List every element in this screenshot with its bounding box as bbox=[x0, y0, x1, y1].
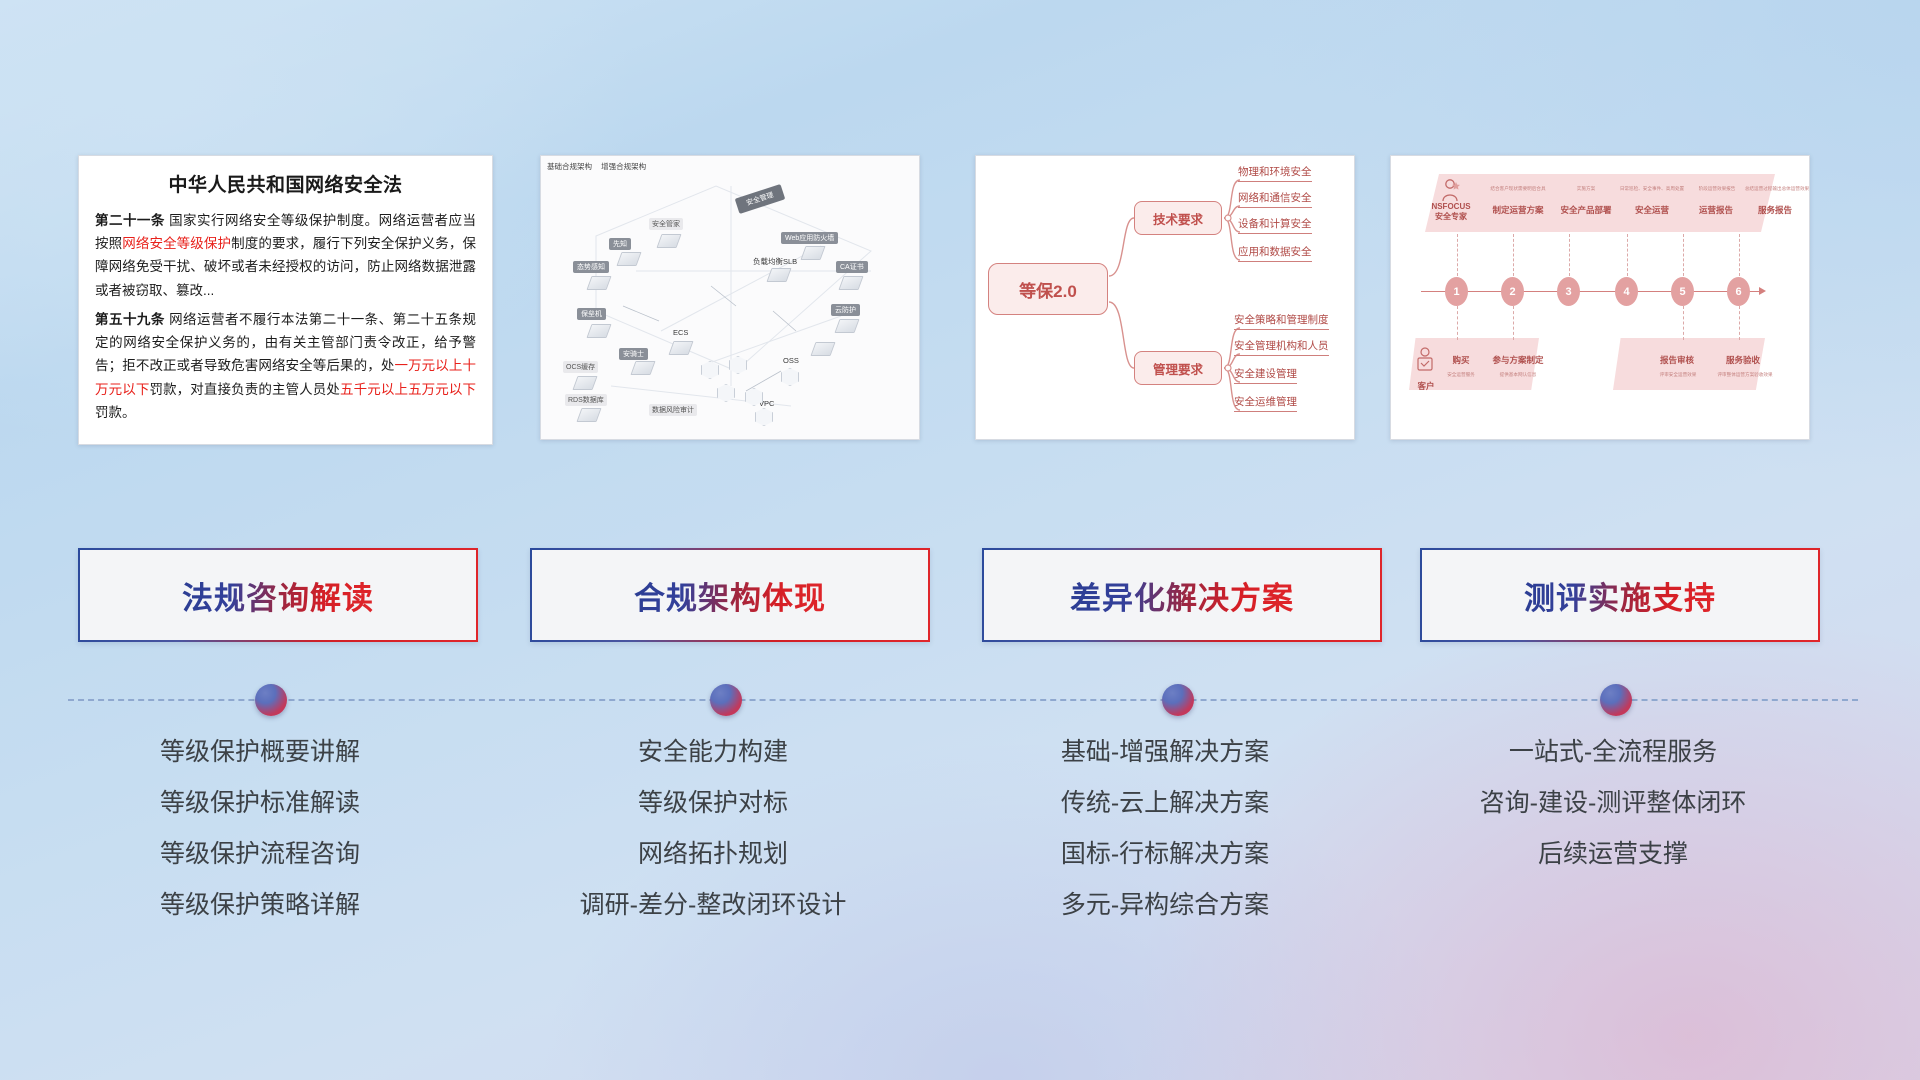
mindmap-branch-management[interactable]: 管理要求 bbox=[1134, 351, 1222, 385]
timeline-step-5[interactable]: 5 bbox=[1671, 277, 1694, 306]
arch-node-waf: Web应用防火墙 bbox=[781, 232, 838, 244]
article-21-label: 第二十一条 bbox=[95, 213, 165, 228]
article-21-highlight: 网络安全等级保护 bbox=[122, 236, 231, 251]
bottom-step-2-sub: 提供基本网认信息 bbox=[1483, 372, 1553, 378]
arch-tab-basic[interactable]: 基础合规架构 bbox=[547, 162, 592, 171]
top-step-4-sub: 日常巡检、安全事件、高周处置 bbox=[1613, 186, 1691, 192]
timeline-bead-4[interactable] bbox=[1600, 684, 1632, 716]
detail-columns: 等级保护概要讲解 等级保护标准解读 等级保护流程咨询 等级保护策略详解 安全能力… bbox=[0, 740, 1920, 1040]
list-item: 多元-异构综合方案 bbox=[965, 893, 1365, 918]
timeline-step-4[interactable]: 4 bbox=[1615, 277, 1638, 306]
progress-timeline bbox=[0, 670, 1920, 730]
service-timeline: NSFOCUS安全专家 结合客户现状需要明后合具 制定运营方案 实施方案 安全产… bbox=[1391, 156, 1809, 439]
headline-label-1: 法规咨询解读 bbox=[182, 573, 374, 618]
list-item: 等级保护概要讲解 bbox=[60, 740, 460, 765]
list-item: 国标-行标解决方案 bbox=[965, 842, 1365, 867]
top-step-5-label: 运营报告 bbox=[1685, 204, 1747, 216]
mindmap-leaf-device-compute: 设备和计算安全 bbox=[1238, 216, 1312, 234]
top-step-4-label: 安全运营 bbox=[1619, 204, 1685, 216]
bottom-step-6-sub: 评审整体运营方案验收效果 bbox=[1707, 372, 1783, 378]
headline-box-compliance-architecture[interactable]: 合规架构体现 bbox=[530, 548, 930, 642]
expert-label: NSFOCUS安全专家 bbox=[1425, 202, 1477, 222]
list-item: 一站式-全流程服务 bbox=[1413, 740, 1813, 765]
headline-label-2: 合规架构体现 bbox=[634, 573, 826, 618]
expert-icon bbox=[1439, 178, 1461, 202]
cards-row: 中华人民共和国网络安全法 第二十一条 国家实行网络安全等级保护制度。网络运营者应… bbox=[0, 155, 1920, 445]
top-step-6-label: 服务报告 bbox=[1745, 204, 1805, 216]
bottom-step-1-label: 购买 bbox=[1443, 354, 1479, 366]
detail-column-1: 等级保护概要讲解 等级保护标准解读 等级保护流程咨询 等级保护策略详解 bbox=[60, 740, 460, 944]
arch-node-ecs: ECS bbox=[673, 328, 688, 337]
top-step-3-label: 安全产品部署 bbox=[1555, 204, 1617, 216]
arch-node-ocs-cache: OCS缓存 bbox=[563, 361, 598, 373]
list-item: 等级保护标准解读 bbox=[60, 791, 460, 816]
list-item: 后续运营支撑 bbox=[1413, 842, 1813, 867]
top-step-3-sub: 实施方案 bbox=[1555, 186, 1617, 192]
article-59-text-2: 罚款，对直接负责的主管人员处 bbox=[149, 382, 340, 397]
bottom-step-5-label: 报告审核 bbox=[1649, 354, 1705, 366]
mindmap-leaf-operations: 安全运维管理 bbox=[1234, 394, 1297, 412]
mindmap: 等保2.0 技术要求 管理要求 物理和环境安全 网络和通信安全 设备和计算安全 … bbox=[976, 156, 1354, 439]
arch-tab-enhanced[interactable]: 增强合规架构 bbox=[601, 162, 646, 171]
card-compliance-architecture[interactable]: 基础合规架构 增强合规架构 bbox=[540, 155, 920, 440]
card-cybersecurity-law[interactable]: 中华人民共和国网络安全法 第二十一条 国家实行网络安全等级保护制度。网络运营者应… bbox=[78, 155, 493, 445]
customer-icon bbox=[1415, 346, 1435, 380]
bottom-step-1-sub: 安全运营服务 bbox=[1439, 372, 1483, 378]
list-item: 传统-云上解决方案 bbox=[965, 791, 1365, 816]
headline-box-regulation-consulting[interactable]: 法规咨询解读 bbox=[78, 548, 478, 642]
list-item: 等级保护对标 bbox=[513, 791, 913, 816]
headline-label-4: 测评实施支持 bbox=[1524, 573, 1716, 618]
arch-node-situation-awareness: 态势感知 bbox=[573, 261, 609, 273]
list-item: 调研-差分-整改闭环设计 bbox=[513, 893, 913, 918]
arch-node-slb: 负载均衡SLB bbox=[753, 256, 797, 267]
headline-box-differentiated-solution[interactable]: 差异化解决方案 bbox=[982, 548, 1382, 642]
article-59-text-3: 罚款。 bbox=[95, 405, 136, 420]
bottom-step-6-label: 服务验收 bbox=[1715, 354, 1771, 366]
arch-node-anqishi: 安骑士 bbox=[619, 348, 648, 360]
arch-node-cloud-protect: 云防护 bbox=[831, 304, 860, 316]
timeline-bead-2[interactable] bbox=[710, 684, 742, 716]
timeline-step-3[interactable]: 3 bbox=[1557, 277, 1580, 306]
timeline-step-6[interactable]: 6 bbox=[1727, 277, 1750, 306]
list-item: 网络拓扑规划 bbox=[513, 842, 913, 867]
mindmap-leaf-construction: 安全建设管理 bbox=[1234, 366, 1297, 384]
headline-label-3: 差异化解决方案 bbox=[1070, 573, 1294, 618]
customer-label: 客户 bbox=[1411, 380, 1441, 392]
detail-column-2: 安全能力构建 等级保护对标 网络拓扑规划 调研-差分-整改闭环设计 bbox=[513, 740, 913, 944]
timeline-arrow-icon bbox=[1759, 287, 1766, 295]
arch-node-oss: OSS bbox=[783, 356, 799, 365]
arch-node-xianzhi: 先知 bbox=[609, 238, 631, 250]
mindmap-leaf-physical-env: 物理和环境安全 bbox=[1238, 164, 1312, 182]
timeline-bead-1[interactable] bbox=[255, 684, 287, 716]
arch-node-data-risk-audit: 数据风险审计 bbox=[649, 404, 697, 416]
top-step-2-label: 制定运营方案 bbox=[1483, 204, 1553, 216]
article-59-highlight-2: 五千元以上五万元以下 bbox=[340, 382, 476, 397]
list-item: 基础-增强解决方案 bbox=[965, 740, 1365, 765]
bottom-step-5-sub: 评审安全运营效果 bbox=[1643, 372, 1713, 378]
timeline-axis bbox=[1421, 291, 1761, 292]
timeline-step-1[interactable]: 1 bbox=[1445, 277, 1468, 306]
mindmap-leaf-org-personnel: 安全管理机构和人员 bbox=[1234, 338, 1329, 356]
mindmap-leaf-app-data: 应用和数据安全 bbox=[1238, 244, 1312, 262]
detail-column-3: 基础-增强解决方案 传统-云上解决方案 国标-行标解决方案 多元-异构综合方案 bbox=[965, 740, 1365, 944]
timeline-dashed-line bbox=[68, 699, 1858, 701]
list-item: 等级保护流程咨询 bbox=[60, 842, 460, 867]
arch-node-rds: RDS数据库 bbox=[565, 394, 607, 406]
article-59-label: 第五十九条 bbox=[95, 312, 165, 327]
law-title: 中华人民共和国网络安全法 bbox=[95, 170, 476, 197]
list-item: 安全能力构建 bbox=[513, 740, 913, 765]
mindmap-leaf-policy-system: 安全策略和管理制度 bbox=[1234, 312, 1329, 330]
arch-node-ca: CA证书 bbox=[836, 261, 868, 273]
headline-box-assessment-support[interactable]: 测评实施支持 bbox=[1420, 548, 1820, 642]
timeline-top-band bbox=[1425, 174, 1775, 232]
headline-row: 法规咨询解读 合规架构体现 差异化解决方案 测评实施支持 bbox=[0, 548, 1920, 644]
timeline-step-2[interactable]: 2 bbox=[1501, 277, 1524, 306]
mindmap-leaf-network-comm: 网络和通信安全 bbox=[1238, 190, 1312, 208]
law-article-59: 第五十九条 网络运营者不履行本法第二十一条、第二十五条规定的网络安全保护义务的，… bbox=[95, 308, 476, 424]
top-step-6-sub: 总结运营过程输出总体运营效果 bbox=[1739, 186, 1810, 192]
mindmap-root[interactable]: 等保2.0 bbox=[988, 263, 1108, 315]
architecture-diagram: 基础合规架构 增强合规架构 bbox=[541, 156, 919, 439]
law-article-21: 第二十一条 国家实行网络安全等级保护制度。网络运营者应当按照网络安全等级保护制度… bbox=[95, 209, 476, 302]
card-mindmap-dengbao[interactable]: 等保2.0 技术要求 管理要求 物理和环境安全 网络和通信安全 设备和计算安全 … bbox=[975, 155, 1355, 440]
mindmap-branch-technical[interactable]: 技术要求 bbox=[1134, 201, 1222, 235]
timeline-bead-3[interactable] bbox=[1162, 684, 1194, 716]
arch-node-bastion-host: 保垒机 bbox=[577, 308, 606, 320]
slide-canvas: 中华人民共和国网络安全法 第二十一条 国家实行网络安全等级保护制度。网络运营者应… bbox=[0, 0, 1920, 1080]
detail-column-4: 一站式-全流程服务 咨询-建设-测评整体闭环 后续运营支撑 bbox=[1413, 740, 1813, 893]
card-service-timeline[interactable]: NSFOCUS安全专家 结合客户现状需要明后合具 制定运营方案 实施方案 安全产… bbox=[1390, 155, 1810, 440]
bottom-step-2-label: 参与方案制定 bbox=[1483, 354, 1553, 366]
architecture-tabs: 基础合规架构 增强合规架构 bbox=[547, 161, 653, 172]
law-body: 中华人民共和国网络安全法 第二十一条 国家实行网络安全等级保护制度。网络运营者应… bbox=[79, 156, 492, 440]
list-item: 等级保护策略详解 bbox=[60, 893, 460, 918]
top-step-2-sub: 结合客户现状需要明后合具 bbox=[1483, 186, 1553, 192]
list-item: 咨询-建设-测评整体闭环 bbox=[1413, 791, 1813, 816]
arch-node-security-butler: 安全管家 bbox=[649, 218, 683, 230]
